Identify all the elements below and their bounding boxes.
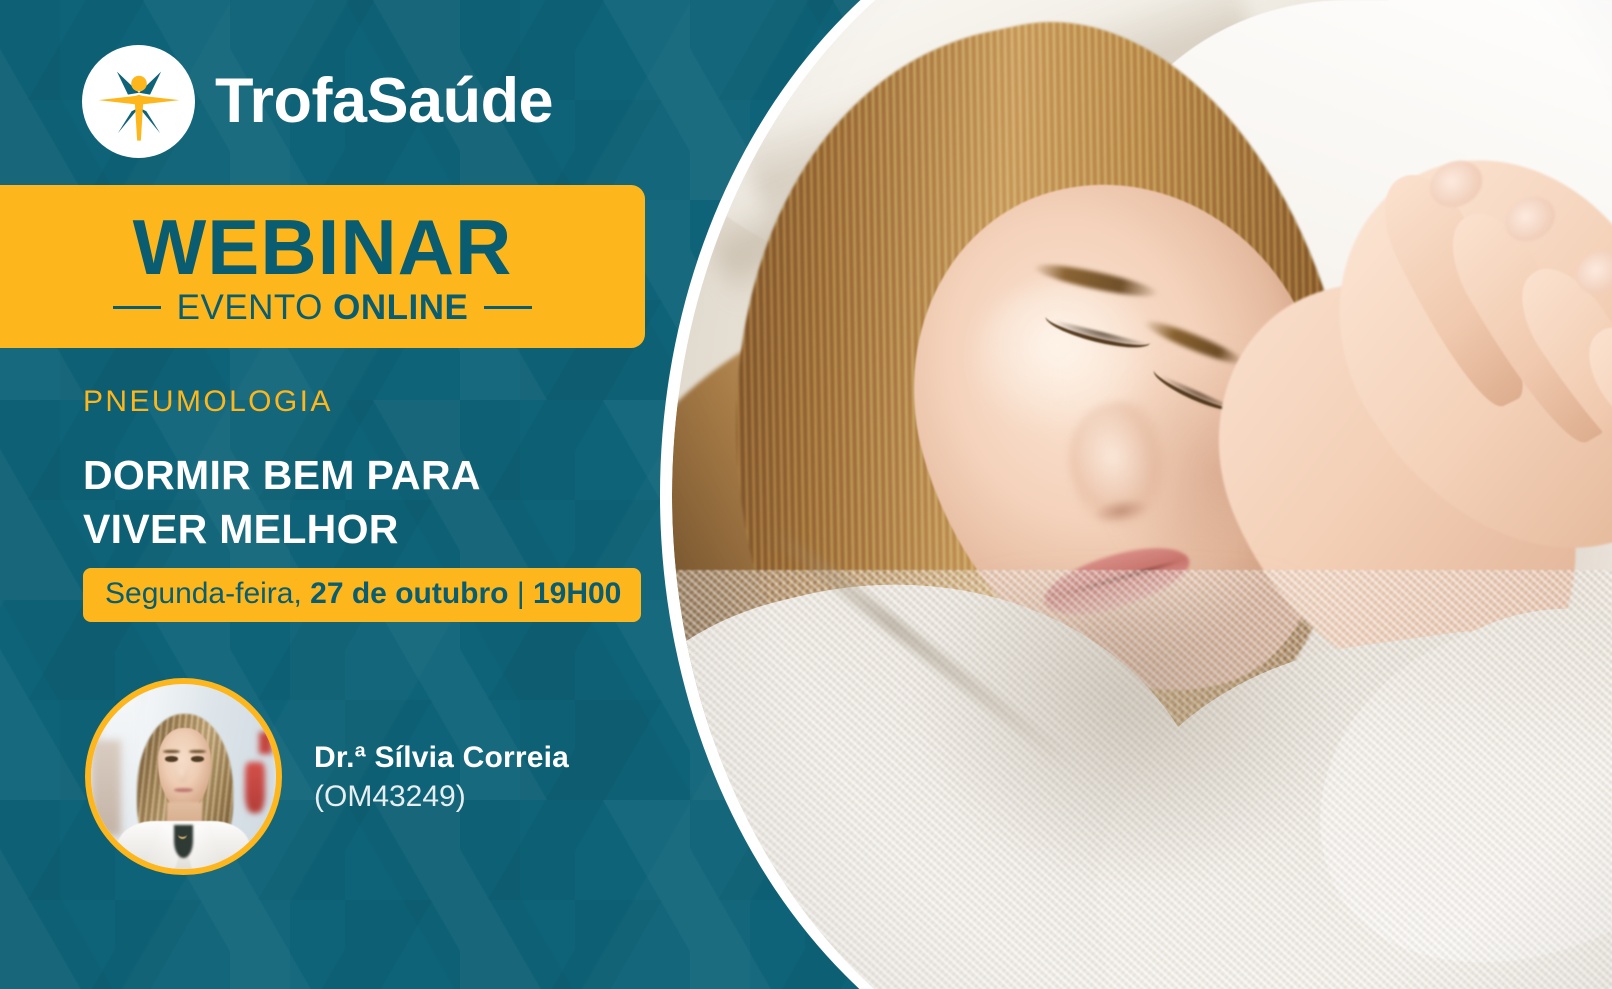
webinar-banner: TrofaSaúde WEBINAR EVENTO ONLINE PNEUMOL… — [0, 0, 1612, 989]
webinar-title: WEBINAR — [133, 212, 513, 284]
avatar-background-accent — [259, 732, 272, 754]
specialty-label: PNEUMOLOGIA — [83, 387, 333, 417]
brand-logo: TrofaSaúde — [82, 45, 553, 158]
brand-wordmark: TrofaSaúde — [215, 70, 553, 133]
speaker-text: Dr.ª Sílvia Correia (OM43249) — [314, 741, 569, 813]
rule-left — [113, 306, 161, 309]
date-time: 19H00 — [533, 577, 621, 610]
hero-photo-inner — [672, 0, 1612, 989]
avatar — [85, 678, 282, 875]
rule-right — [484, 306, 532, 309]
photo-vignette — [672, 0, 1612, 989]
webinar-subtitle: EVENTO ONLINE — [177, 290, 469, 325]
avatar-eye-right — [191, 756, 204, 762]
webinar-subtitle-row: EVENTO ONLINE — [113, 290, 533, 325]
title-line-2: VIVER MELHOR — [83, 502, 481, 556]
title-line-1: DORMIR BEM PARA — [83, 448, 481, 502]
avatar-eye-left — [165, 756, 178, 762]
speaker-registration: (OM43249) — [314, 780, 569, 813]
avatar-background-accent — [245, 762, 265, 814]
page-title: DORMIR BEM PARA VIVER MELHOR — [83, 448, 481, 556]
hero-photo — [672, 0, 1612, 989]
date-separator: | — [508, 577, 532, 610]
trofasaude-star-figure-icon — [82, 45, 195, 158]
date-badge: Segunda-feira, 27 de outubro | 19H00 — [83, 568, 641, 622]
speaker-block: Dr.ª Sílvia Correia (OM43249) — [85, 678, 569, 875]
date-day: 27 de outubro — [310, 577, 508, 610]
speaker-name: Dr.ª Sílvia Correia — [314, 741, 569, 774]
subtitle-bold: ONLINE — [333, 288, 468, 327]
avatar-door — [91, 740, 121, 836]
subtitle-regular: EVENTO — [177, 288, 334, 327]
date-weekday: Segunda-feira, — [105, 577, 310, 610]
webinar-badge: WEBINAR EVENTO ONLINE — [0, 185, 645, 348]
